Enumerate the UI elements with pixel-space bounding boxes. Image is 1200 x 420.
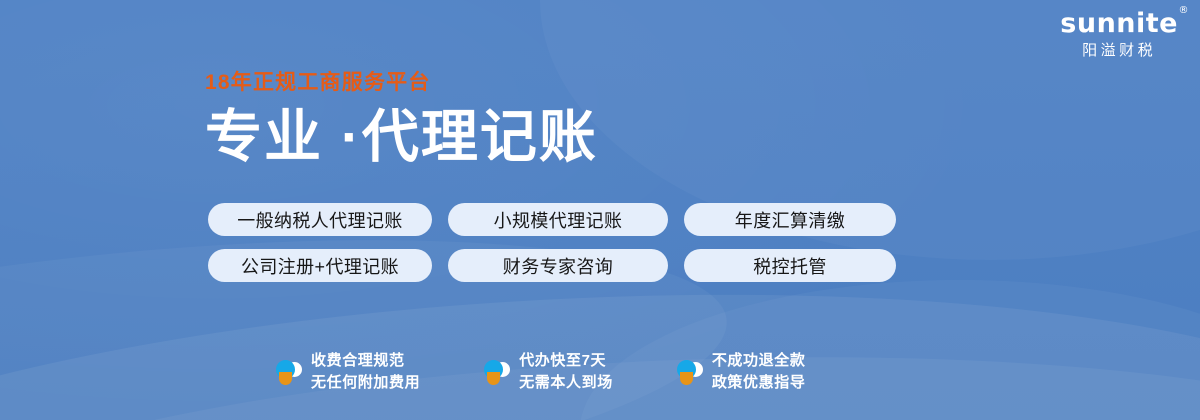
check-badge-icon-base xyxy=(279,372,292,385)
feature-line-1: 收费合理规范 xyxy=(311,352,405,369)
hero-headline: 专业 ·代理记账 xyxy=(205,108,598,168)
feature-text: 收费合理规范 无任何附加费用 xyxy=(311,350,420,394)
feature-line-2: 无需本人到场 xyxy=(519,374,613,391)
feature-line-2: 无任何附加费用 xyxy=(311,374,420,391)
service-pill[interactable]: 财务专家咨询 xyxy=(448,249,668,282)
feature-text: 不成功退全款 政策优惠指导 xyxy=(712,350,806,394)
logo-wordmark-text: sunnite xyxy=(1060,8,1178,39)
feature-text: 代办快至7天 无需本人到场 xyxy=(519,350,613,394)
feature-item: 收费合理规范 无任何附加费用 xyxy=(276,350,420,394)
feature-line-2: 政策优惠指导 xyxy=(712,374,806,391)
check-badge-icon-base xyxy=(487,372,500,385)
service-pill[interactable]: 税控托管 xyxy=(684,249,896,282)
check-badge-icon xyxy=(484,359,510,385)
hero-text-block: 18年正规工商服务平台 专业 ·代理记账 xyxy=(205,72,598,168)
logo-subtitle: 阳溢财税 xyxy=(1060,43,1178,58)
feature-line-1: 不成功退全款 xyxy=(712,352,806,369)
feature-item: 不成功退全款 政策优惠指导 xyxy=(677,350,806,394)
promo-banner: sunnite ® 阳溢财税 18年正规工商服务平台 专业 ·代理记账 一般纳税… xyxy=(0,0,1200,420)
service-pill[interactable]: 年度汇算清缴 xyxy=(684,203,896,236)
service-pill-grid: 一般纳税人代理记账 小规模代理记账 年度汇算清缴 公司注册+代理记账 财务专家咨… xyxy=(208,203,896,282)
feature-item: 代办快至7天 无需本人到场 xyxy=(484,350,613,394)
check-badge-icon xyxy=(677,359,703,385)
registered-trademark-icon: ® xyxy=(1179,6,1190,16)
feature-strip: 收费合理规范 无任何附加费用 代办快至7天 无需本人到场 不成功退全款 xyxy=(276,350,805,394)
brand-logo[interactable]: sunnite ® 阳溢财税 xyxy=(1060,10,1178,58)
check-badge-icon xyxy=(276,359,302,385)
service-pill[interactable]: 公司注册+代理记账 xyxy=(208,249,432,282)
service-pill[interactable]: 一般纳税人代理记账 xyxy=(208,203,432,236)
logo-wordmark: sunnite ® xyxy=(1060,10,1178,37)
hero-eyebrow: 18年正规工商服务平台 xyxy=(205,72,598,93)
feature-line-1: 代办快至7天 xyxy=(519,352,606,369)
check-badge-icon-base xyxy=(680,372,693,385)
service-pill[interactable]: 小规模代理记账 xyxy=(448,203,668,236)
